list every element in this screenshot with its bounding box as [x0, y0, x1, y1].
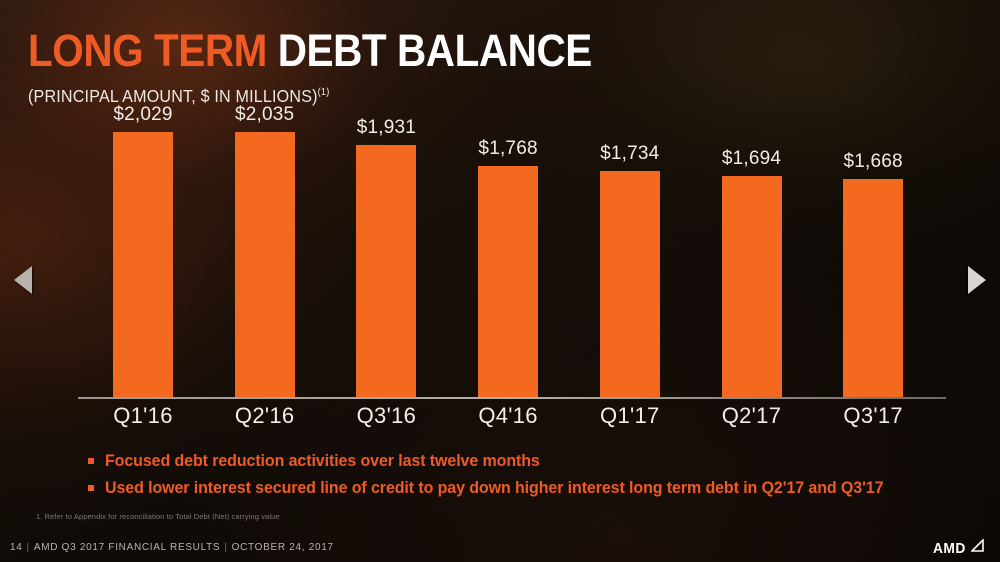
x-tick-label: Q3'16: [334, 403, 438, 429]
x-tick-label: Q1'16: [91, 403, 195, 429]
bullet-list: Focused debt reduction activities over l…: [88, 450, 968, 505]
x-tick-label: Q1'17: [578, 403, 682, 429]
square-bullet-icon: [88, 485, 94, 491]
x-tick-label: Q2'16: [213, 403, 317, 429]
footnote: 1. Refer to Appendix for reconciliation …: [36, 512, 280, 521]
presentation-slide: LONG TERM DEBT BALANCE (PRINCIPAL AMOUNT…: [0, 0, 1000, 562]
x-tick-label: Q2'17: [700, 403, 804, 429]
bar-Q316: [356, 145, 416, 397]
bar-Q216: [235, 132, 295, 397]
list-item: Focused debt reduction activities over l…: [88, 450, 968, 472]
deck-title: AMD Q3 2017 FINANCIAL RESULTS: [34, 542, 220, 553]
bullet-text: Focused debt reduction activities over l…: [105, 450, 540, 472]
bullet-text: Used lower interest secured line of cred…: [105, 477, 883, 499]
bar-value-label: $1,734: [578, 143, 682, 165]
footer-text: 14|AMD Q3 2017 FINANCIAL RESULTS|OCTOBER…: [10, 542, 334, 553]
next-slide-button[interactable]: [968, 266, 986, 294]
bar-Q217: [722, 176, 782, 397]
previous-slide-button[interactable]: [14, 266, 32, 294]
x-axis-tick-labels: Q1'16Q2'16Q3'16Q4'16Q1'17Q2'17Q3'17: [78, 403, 946, 435]
list-item: Used lower interest secured line of cred…: [88, 477, 968, 499]
amd-logo: AMD: [933, 539, 984, 557]
bar-value-label: $1,668: [821, 151, 925, 173]
bar-Q116: [113, 132, 173, 397]
slide-footer: 14|AMD Q3 2017 FINANCIAL RESULTS|OCTOBER…: [0, 535, 1000, 562]
deck-date: OCTOBER 24, 2017: [232, 542, 334, 553]
amd-logo-text: AMD: [933, 540, 966, 557]
page-title: LONG TERM DEBT BALANCE: [28, 28, 592, 73]
x-tick-label: Q3'17: [821, 403, 925, 429]
bar-chart: $2,029$2,035$1,931$1,768$1,734$1,694$1,6…: [78, 110, 946, 397]
bar-Q317: [843, 179, 903, 397]
bar-series: $2,029$2,035$1,931$1,768$1,734$1,694$1,6…: [78, 110, 946, 397]
bar-Q117: [600, 171, 660, 397]
x-tick-label: Q4'16: [456, 403, 560, 429]
bar-value-label: $2,035: [213, 104, 317, 126]
title-highlight: LONG TERM: [28, 25, 267, 76]
amd-arrow-icon: [971, 539, 984, 557]
subtitle-footnote-marker: (1): [318, 87, 330, 98]
bar-value-label: $2,029: [91, 104, 195, 126]
page-number: 14: [10, 542, 23, 553]
bar-Q416: [478, 166, 538, 397]
bar-value-label: $1,694: [700, 148, 804, 170]
bar-value-label: $1,931: [334, 117, 438, 139]
bar-value-label: $1,768: [456, 138, 560, 160]
x-axis-line: [78, 397, 946, 399]
title-main: DEBT BALANCE: [278, 25, 592, 76]
square-bullet-icon: [88, 458, 94, 464]
title-block: LONG TERM DEBT BALANCE (PRINCIPAL AMOUNT…: [28, 28, 655, 107]
